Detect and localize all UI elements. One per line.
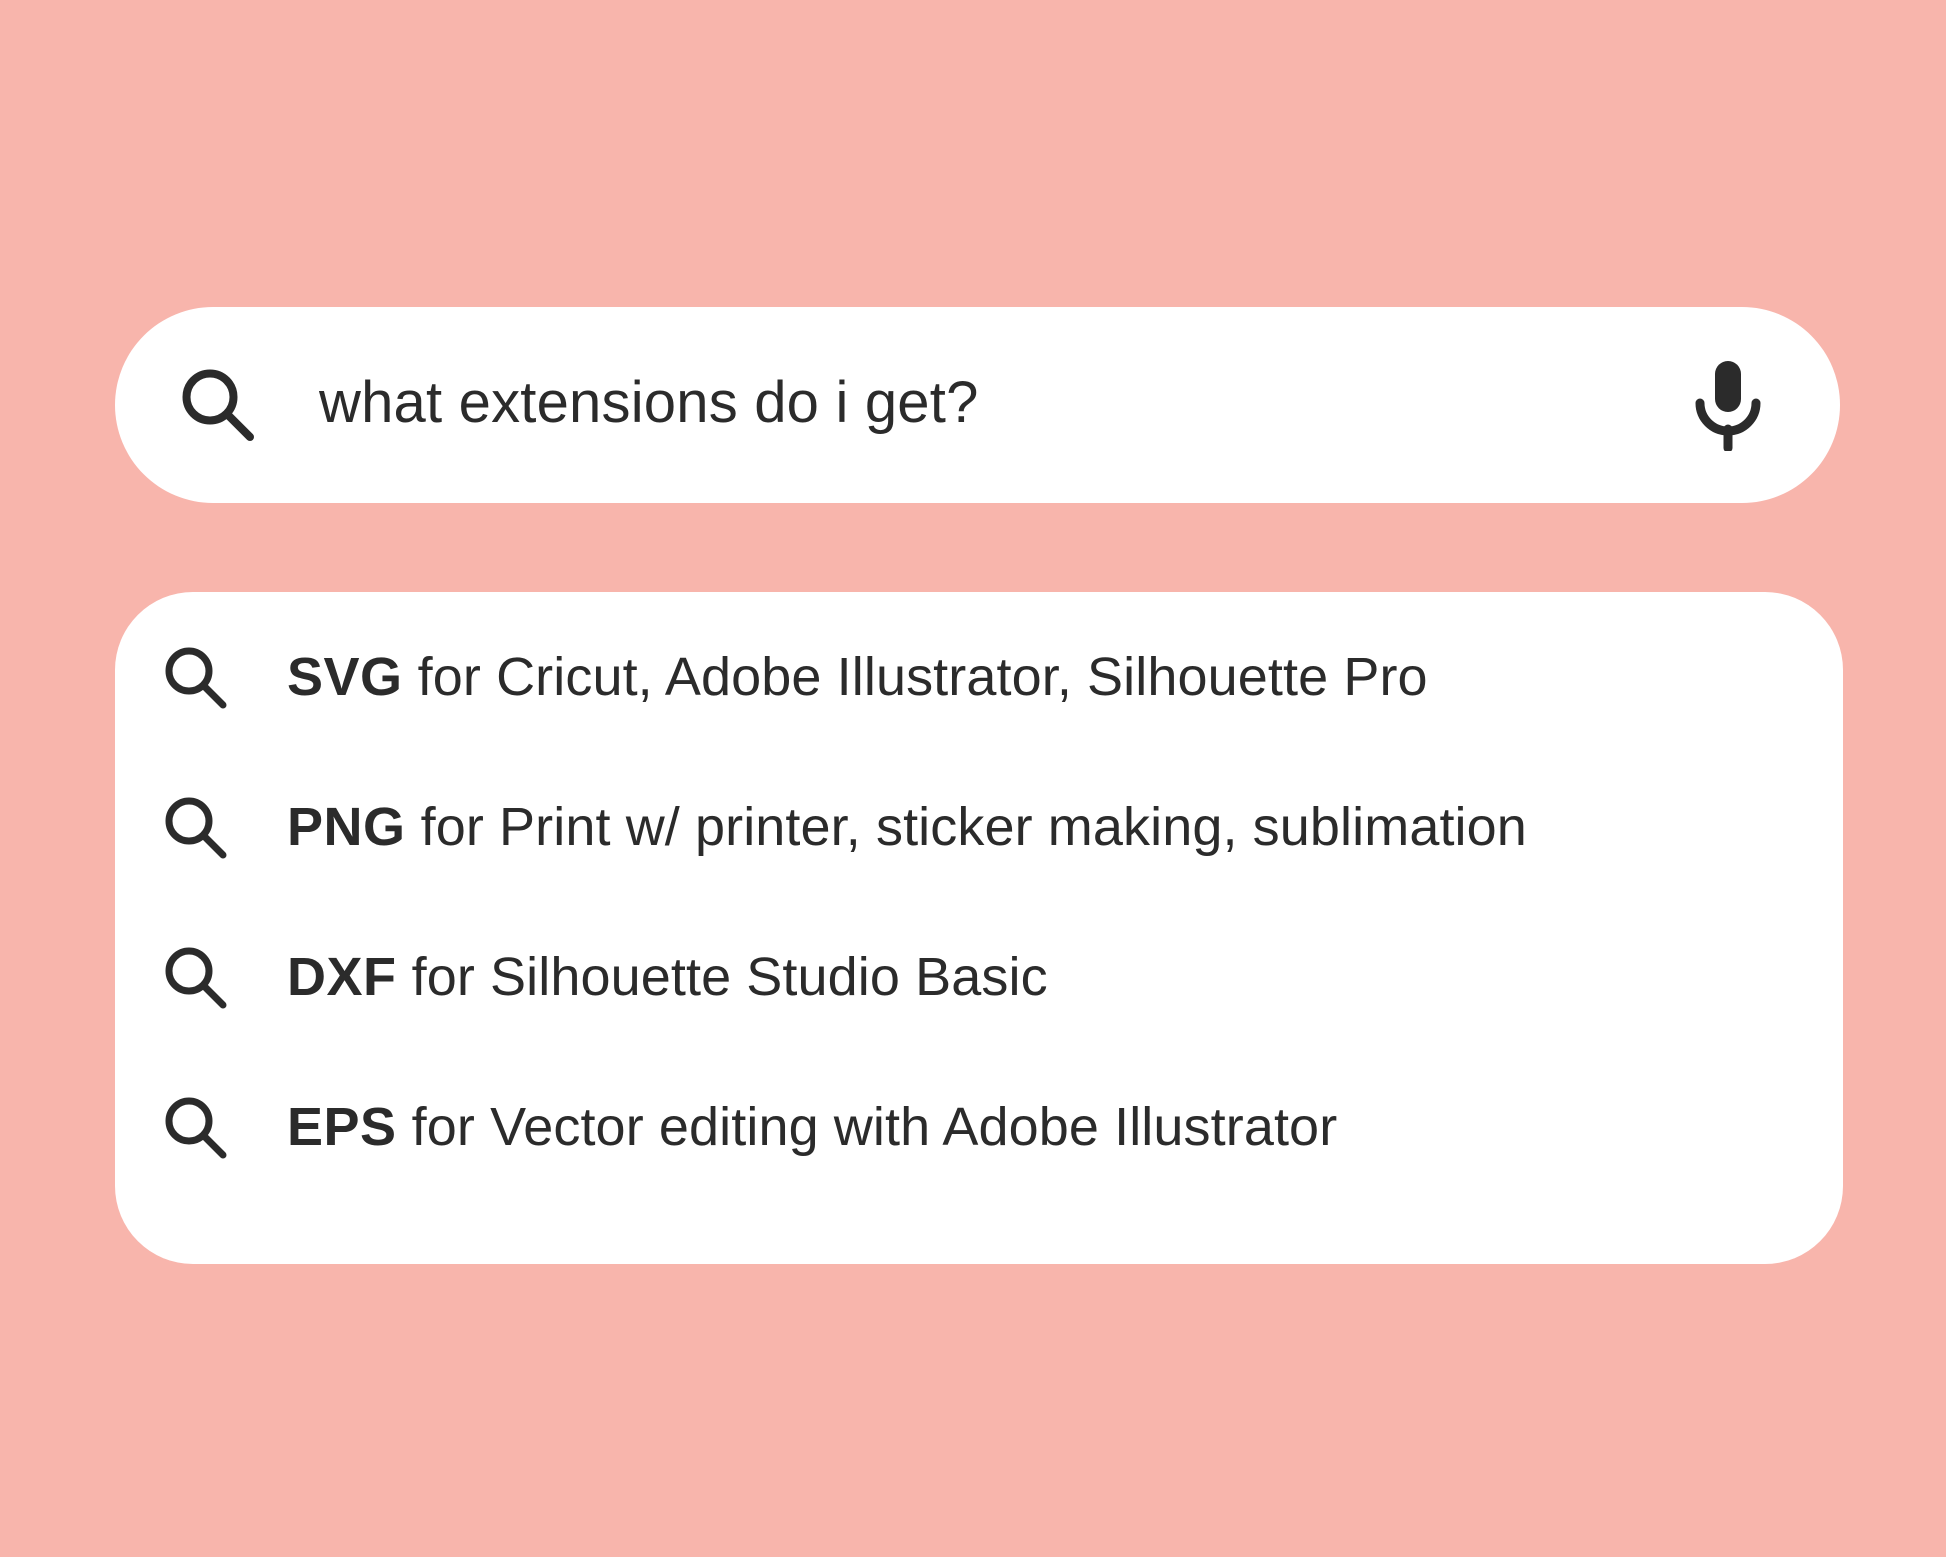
search-mockup-stage: what extensions do i get? SVG for Cricut… [0,0,1946,1557]
search-icon [163,1095,229,1161]
search-icon [163,645,229,711]
suggestion-format: EPS [287,1097,397,1157]
suggestion-format: PNG [287,797,406,857]
list-item[interactable]: SVG for Cricut, Adobe Illustrator, Silho… [115,635,1843,721]
search-icon [163,795,229,861]
suggestion-label: DXF for Silhouette Studio Basic [287,950,1048,1007]
suggestion-description: for Vector editing with Adobe Illustrato… [397,1097,1338,1157]
suggestion-description: for Silhouette Studio Basic [397,947,1048,1007]
list-item[interactable]: PNG for Print w/ printer, sticker making… [115,785,1843,871]
suggestions-card: SVG for Cricut, Adobe Illustrator, Silho… [115,592,1843,1264]
suggestion-description: for Print w/ printer, sticker making, su… [406,797,1527,857]
search-bar[interactable]: what extensions do i get? [115,307,1840,503]
suggestion-label: SVG for Cricut, Adobe Illustrator, Silho… [287,650,1428,707]
suggestion-format: SVG [287,647,403,707]
microphone-icon[interactable] [1688,359,1768,451]
list-item[interactable]: DXF for Silhouette Studio Basic [115,935,1843,1021]
suggestion-label: EPS for Vector editing with Adobe Illust… [287,1100,1337,1157]
search-icon [179,366,257,444]
suggestion-description: for Cricut, Adobe Illustrator, Silhouett… [403,647,1428,707]
suggestion-label: PNG for Print w/ printer, sticker making… [287,800,1527,857]
search-icon [163,945,229,1011]
search-input[interactable]: what extensions do i get? [319,374,1688,436]
list-item[interactable]: EPS for Vector editing with Adobe Illust… [115,1085,1843,1171]
suggestion-format: DXF [287,947,397,1007]
